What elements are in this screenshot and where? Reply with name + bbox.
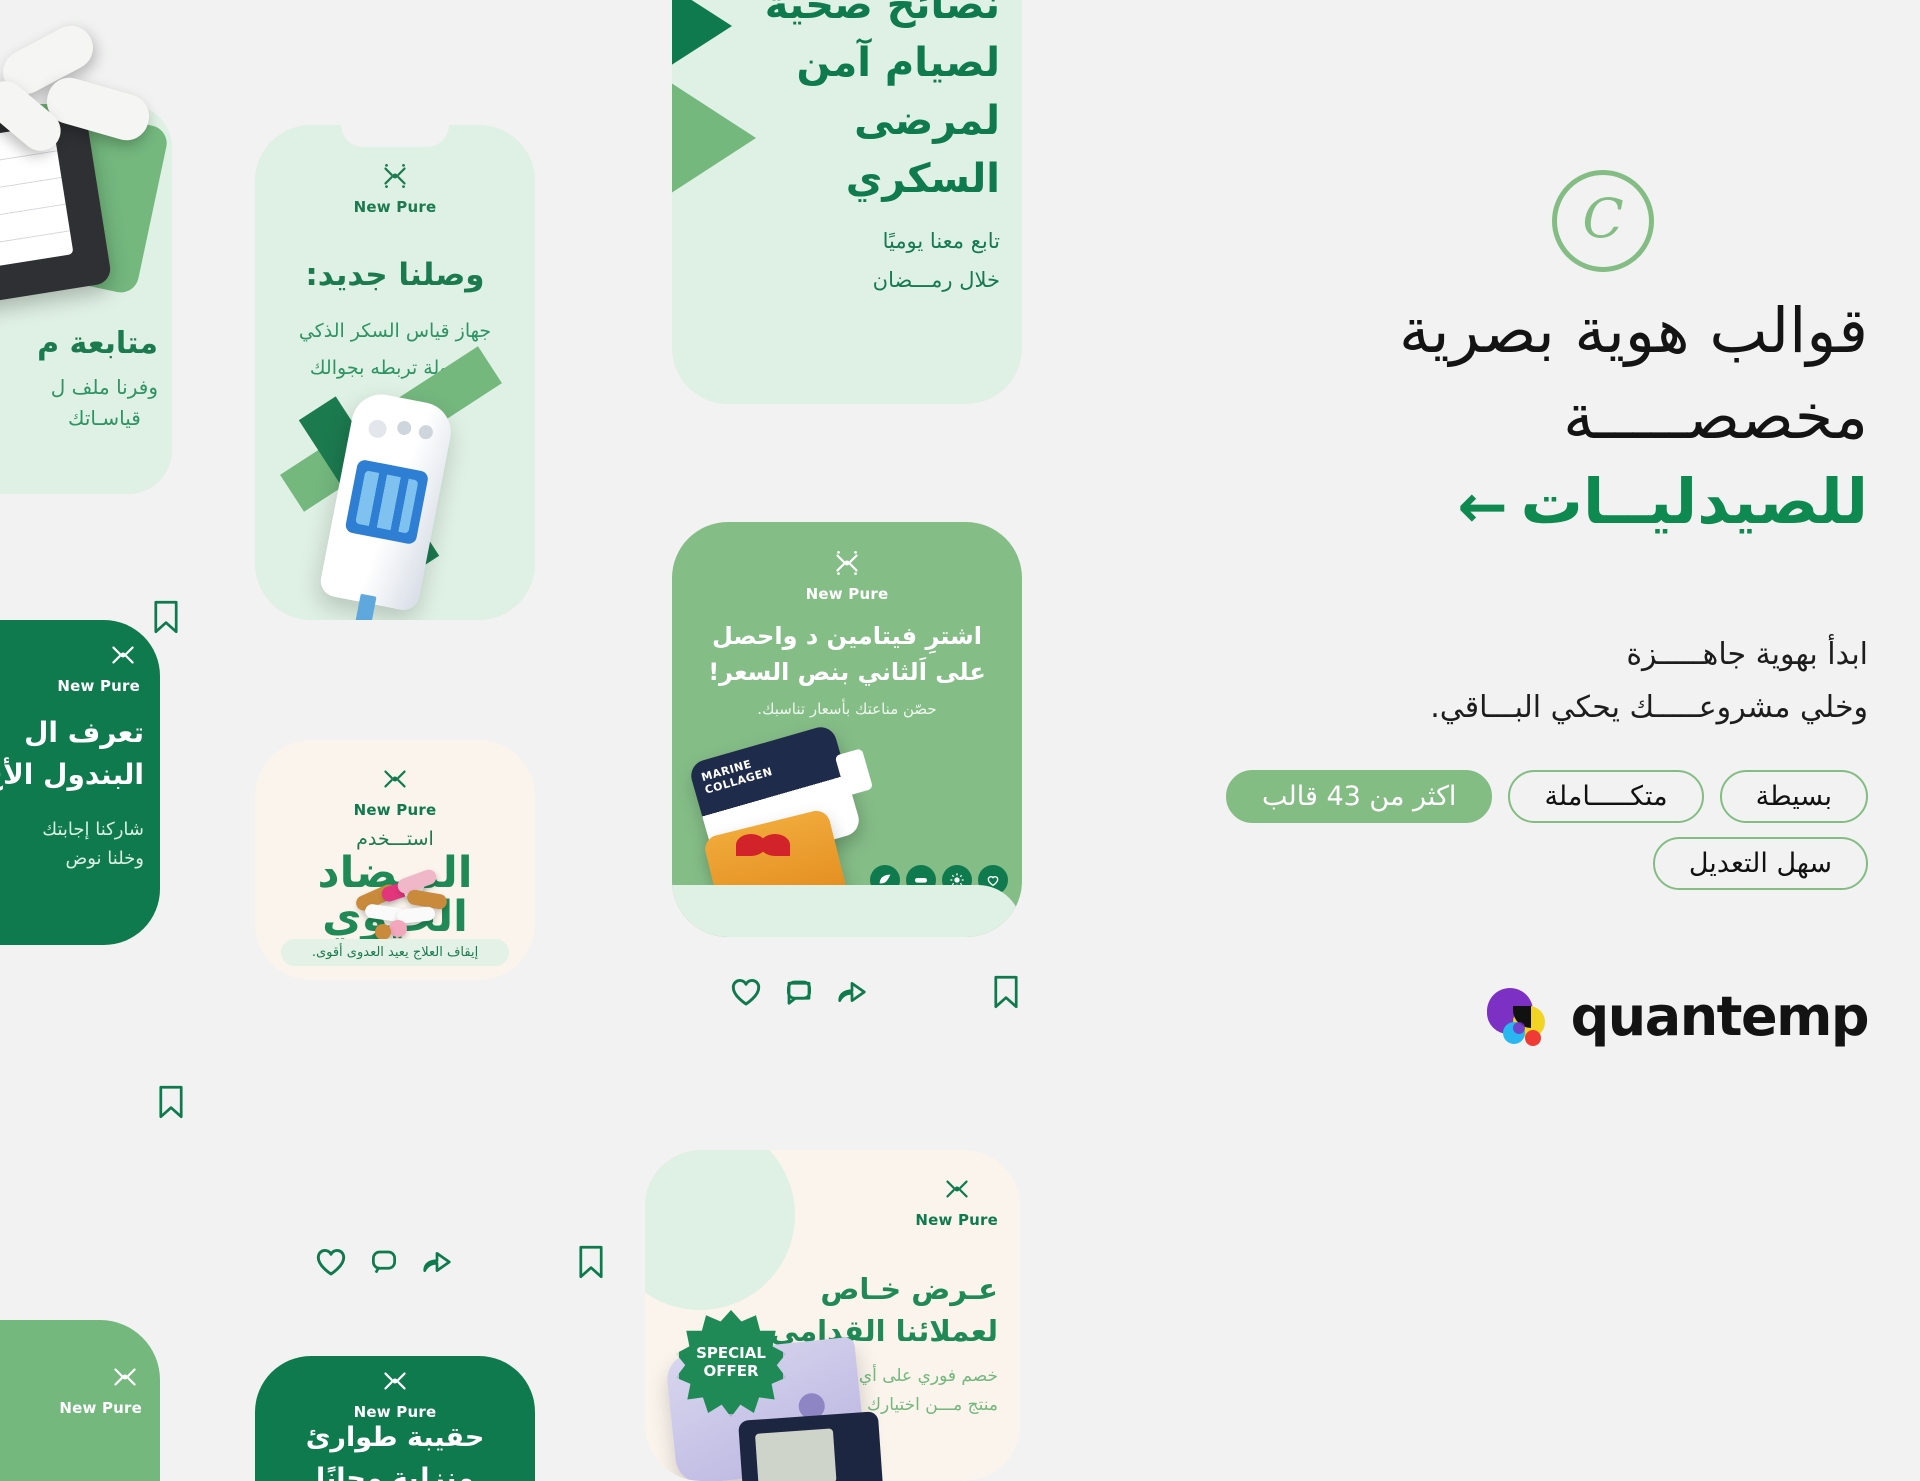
page-title: قوالب هوية بصرية مخصصـــــة للصيدليــات← bbox=[1128, 288, 1868, 545]
subtitle-line-2: وخلي مشروعـــــك يحكي البـــاقي. bbox=[1128, 681, 1868, 734]
heart-icon[interactable] bbox=[730, 977, 762, 1007]
card-offer-title: عـرض خـاص لعملائنا القدامى bbox=[770, 1268, 998, 1352]
headline-line-3: للصيدليــات bbox=[1521, 465, 1868, 538]
card-notch bbox=[341, 125, 449, 147]
pill-template-count[interactable]: اكثر من 43 قالب bbox=[1226, 770, 1492, 823]
social-actions-row bbox=[730, 975, 1020, 1009]
newpure-mark-icon bbox=[378, 762, 412, 796]
newpure-mark-icon bbox=[106, 638, 140, 672]
bookmark-icon[interactable] bbox=[992, 975, 1020, 1009]
pill-easy-edit[interactable]: سهل التعديل bbox=[1653, 837, 1868, 890]
newpure-wordmark: New Pure bbox=[354, 198, 437, 216]
right-content-panel: C قوالب هوية بصرية مخصصـــــة للصيدليــا… bbox=[1075, 0, 1920, 1481]
quantemp-brand: quantemp bbox=[1487, 985, 1868, 1048]
c-monogram-letter: C bbox=[1582, 192, 1623, 246]
newpure-mark-icon bbox=[378, 159, 412, 193]
badge-line2: OFFER bbox=[703, 1362, 758, 1380]
bookmark-icon[interactable] bbox=[152, 600, 180, 634]
card-emergency-kit[interactable]: New Pure حقيبة طوارئ منزلية مجانًا مع كل… bbox=[255, 1356, 535, 1481]
card-vitamin-subtitle: حصّن مناعتك بأسعار تناسبك. bbox=[686, 700, 1008, 718]
feature-pill-list: بسيطة متكـــــاملة اكثر من 43 قالب سهل ا… bbox=[1128, 770, 1868, 890]
card-followup[interactable]: متابعة م وفرنا ملف ل قياسـاتك bbox=[0, 104, 172, 494]
newpure-logo: New Pure bbox=[57, 638, 140, 695]
subtitle-line-1: ابدأ بهوية جاهـــــزة bbox=[1128, 628, 1868, 681]
pill-complete[interactable]: متكـــــاملة bbox=[1508, 770, 1703, 823]
badge-line1: SPECIAL bbox=[696, 1344, 766, 1362]
newpure-mark-icon bbox=[108, 1360, 142, 1394]
card-ramadan-title: نصائح صحية لصيام آمن لمرضى السكري bbox=[765, 0, 1000, 208]
headline-line-2: مخصصـــــة bbox=[1128, 374, 1868, 460]
card-quiz[interactable]: New Pure تعرف ال البندول الأح شاركنا إجا… bbox=[0, 620, 160, 945]
template-collage: متابعة م وفرنا ملف ل قياسـاتك bbox=[0, 0, 1075, 1481]
newpure-logo: New Pure bbox=[255, 1364, 535, 1421]
card-ramadan-subtitle: تابع معنا يوميًا خلال رمـــضان bbox=[873, 222, 1000, 300]
social-actions-row bbox=[315, 1245, 605, 1279]
card-glucometer[interactable]: New Pure وصلنا جديد: جهاز قياس السكر الذ… bbox=[255, 125, 535, 620]
newpure-logo: New Pure bbox=[59, 1360, 142, 1417]
card-antibiotic[interactable]: New Pure استـــخدم المـضاد الحيوي كامـــ… bbox=[255, 740, 535, 980]
capsules-image bbox=[351, 872, 461, 934]
newpure-mark-icon bbox=[378, 1364, 412, 1398]
card-bottom-blob[interactable]: New Pure bbox=[0, 1320, 160, 1481]
newpure-wordmark: New Pure bbox=[915, 1211, 998, 1229]
bp-monitor-image bbox=[738, 1411, 884, 1481]
card-vitamin-offer[interactable]: New Pure اشترِ فيتامين د واحصل على اَلثا… bbox=[672, 522, 1022, 937]
bookmark-icon[interactable] bbox=[577, 1245, 605, 1279]
card-quiz-title: تعرف ال البندول الأح bbox=[0, 712, 144, 796]
pills-image bbox=[0, 0, 290, 150]
gift-ribbon-icon bbox=[736, 834, 798, 874]
pill-simple[interactable]: بسيطة bbox=[1720, 770, 1868, 823]
heart-icon[interactable] bbox=[315, 1247, 347, 1277]
newpure-logo: New Pure bbox=[672, 546, 1022, 603]
special-offer-badge: SPECIAL OFFER bbox=[679, 1310, 783, 1414]
card-quiz-subtitle: شاركنا إجابتك وخلنا نوض bbox=[42, 816, 144, 874]
headline-line-3-wrap: للصيدليــات← bbox=[1128, 459, 1868, 545]
newpure-wordmark: New Pure bbox=[806, 585, 889, 603]
newpure-logo: New Pure bbox=[915, 1172, 998, 1229]
decor-triangle-light bbox=[672, 42, 756, 234]
card-ramadan-tips[interactable]: نصائح صحية لصيام آمن لمرضى السكري تابع م… bbox=[672, 0, 1022, 404]
page-subtitle: ابدأ بهوية جاهـــــزة وخلي مشروعـــــك ي… bbox=[1128, 628, 1868, 735]
card-kit-title: حقيبة طوارئ منزلية مجانًا مع كل فاتورة ف… bbox=[265, 1418, 525, 1481]
newpure-wordmark: New Pure bbox=[354, 801, 437, 819]
bookmark-icon[interactable] bbox=[157, 1085, 185, 1119]
newpure-mark-icon bbox=[830, 546, 864, 580]
card-antibiotic-line-top: استـــخدم bbox=[255, 828, 535, 850]
card-followup-body: وفرنا ملف ل قياسـاتك bbox=[51, 372, 158, 434]
quantemp-wordmark: quantemp bbox=[1571, 985, 1868, 1048]
share-icon[interactable] bbox=[836, 977, 868, 1007]
newpure-wordmark: New Pure bbox=[57, 677, 140, 695]
card-tail-decor bbox=[672, 885, 1022, 937]
newpure-logo: New Pure bbox=[255, 159, 535, 216]
social-row-quiz bbox=[55, 1085, 185, 1119]
comment-icon[interactable] bbox=[784, 977, 814, 1007]
newpure-logo: New Pure bbox=[255, 762, 535, 819]
quantemp-logo-icon bbox=[1487, 988, 1555, 1046]
headline-line-1: قوالب هوية بصرية bbox=[1128, 288, 1868, 374]
poster-canvas: متابعة م وفرنا ملف ل قياسـاتك bbox=[0, 0, 1920, 1481]
card-antibiotic-note: إيقاف العلاج يعيد العدوى أقوى. bbox=[281, 939, 509, 966]
card-glucometer-title: وصلنا جديد: bbox=[255, 257, 535, 293]
card-special-offer[interactable]: New Pure عـرض خـاص لعملائنا القدامى خصم … bbox=[645, 1150, 1020, 1481]
card-vitamin-title: اشترِ فيتامين د واحصل على اَلثاني بنص ال… bbox=[686, 618, 1008, 690]
card-followup-title: متابعة م bbox=[37, 326, 158, 361]
newpure-mark-icon bbox=[940, 1172, 974, 1206]
card-offer-subtitle: خصم فوري على أي منتج مـــن اختيارك bbox=[859, 1362, 998, 1420]
c-monogram-badge: C bbox=[1552, 170, 1654, 272]
newpure-wordmark: New Pure bbox=[59, 1399, 142, 1417]
arrow-left-icon: ← bbox=[1457, 477, 1506, 537]
comment-icon[interactable] bbox=[369, 1247, 399, 1277]
share-icon[interactable] bbox=[421, 1247, 453, 1277]
